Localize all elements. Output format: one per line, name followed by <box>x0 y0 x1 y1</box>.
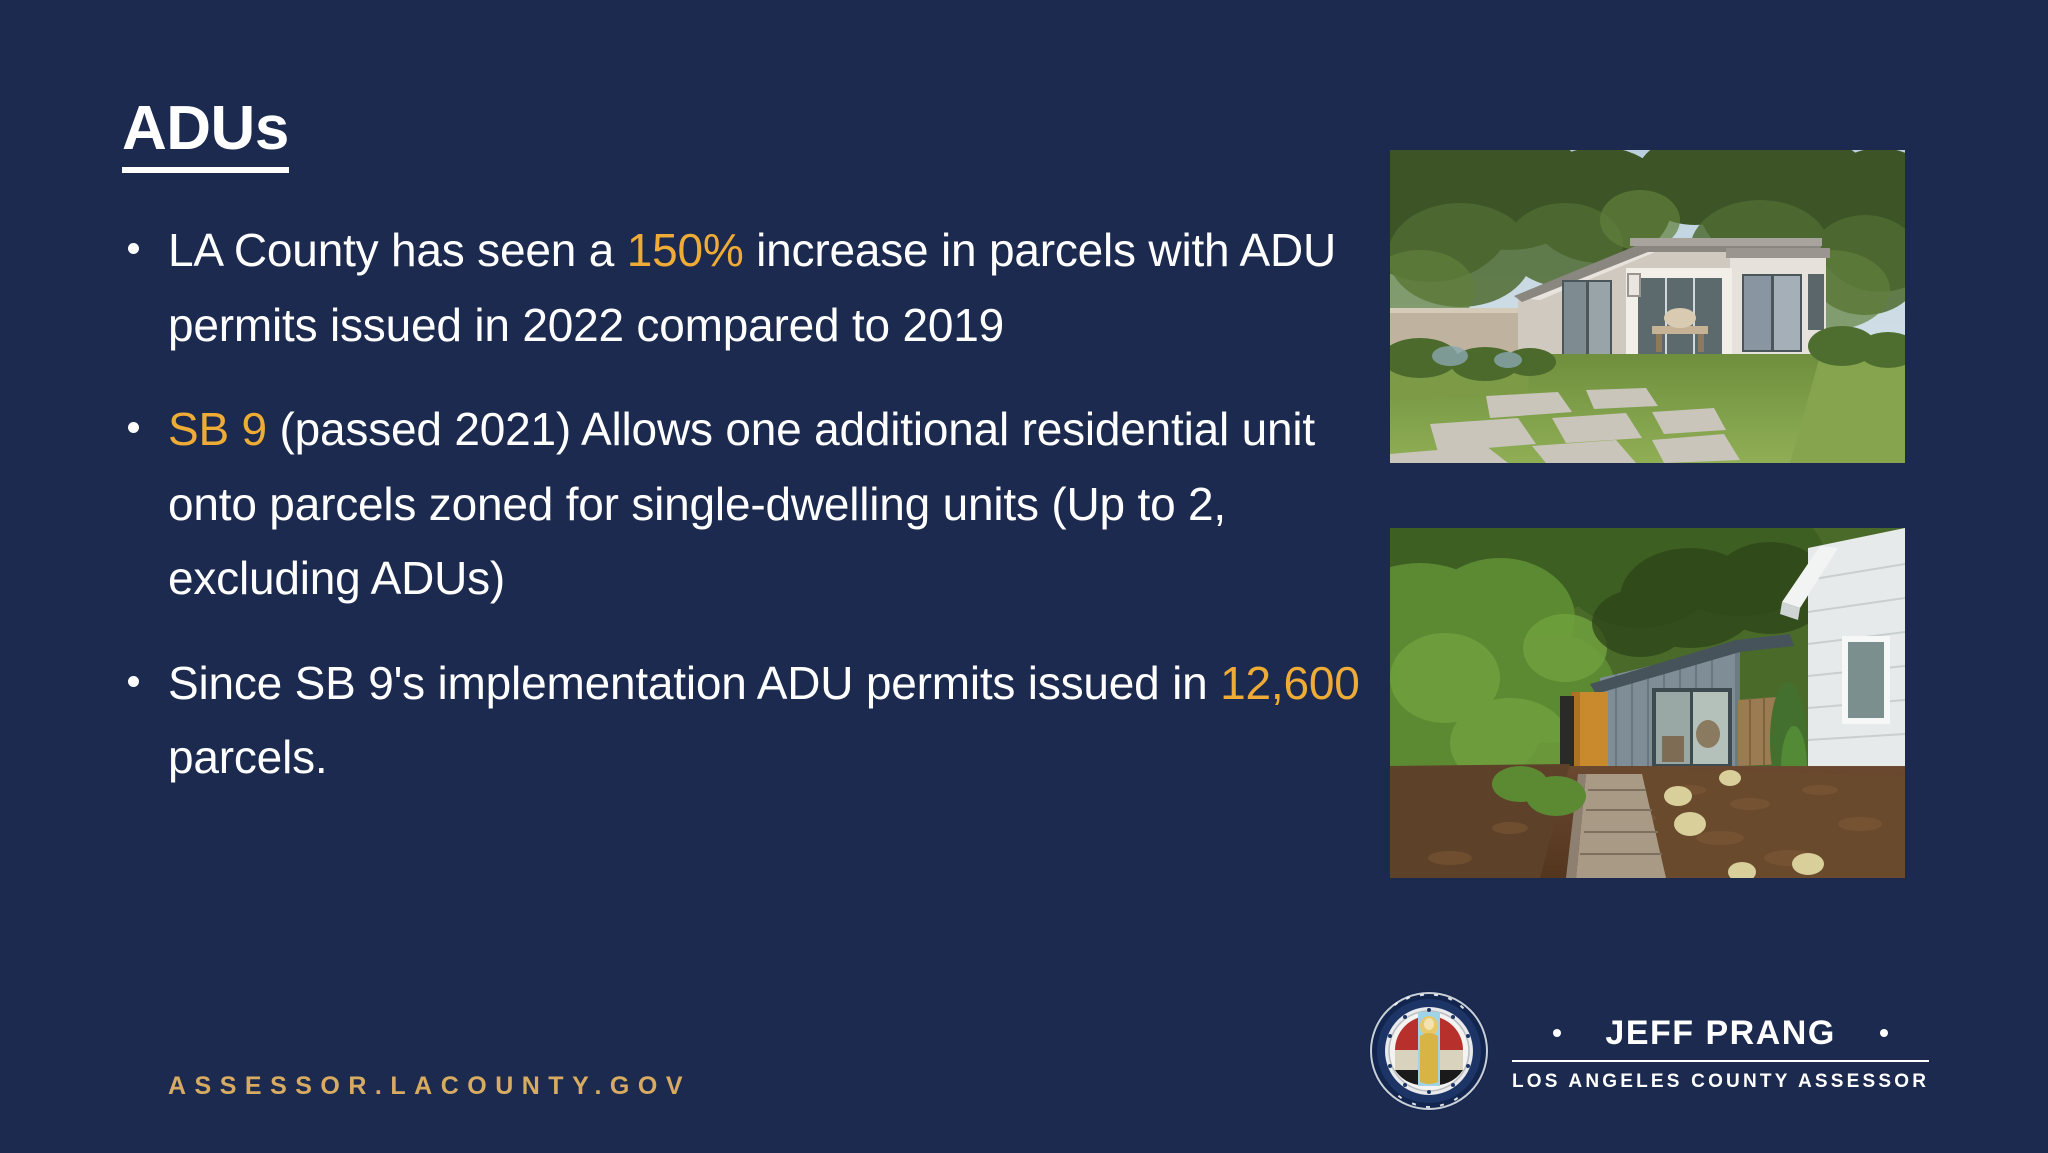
bullet-dot-icon <box>128 243 139 254</box>
list-item: LA County has seen a 150% increase in pa… <box>110 213 1360 362</box>
page-title: ADUs <box>122 96 289 173</box>
bullet-list: LA County has seen a 150% increase in pa… <box>110 213 1360 795</box>
list-item: SB 9 (passed 2021) Allows one additional… <box>110 392 1360 616</box>
bullet-text-1: LA County has seen a 150% increase in pa… <box>168 224 1336 351</box>
logo-name-row: JEFF PRANG <box>1512 1014 1929 1062</box>
logo-text-block: JEFF PRANG LOS ANGELES COUNTY ASSESSOR <box>1512 1010 1929 1093</box>
bullet-segment: Since SB 9's implementation ADU permits … <box>168 657 1220 709</box>
bullet-accent-value: 150% <box>627 224 744 276</box>
left-dot-icon <box>1553 1029 1561 1037</box>
los-angeles-county-seal-icon <box>1368 990 1490 1112</box>
bullet-dot-icon <box>128 676 139 687</box>
bullet-segment: parcels. <box>168 731 327 783</box>
right-dot-icon <box>1880 1029 1888 1037</box>
adu-gray-siding-walkway-illustration <box>1390 528 1905 878</box>
adu-photo-bottom <box>1390 528 1905 878</box>
bullet-accent-value: SB 9 <box>168 403 267 455</box>
bullet-segment: (passed 2021) Allows one additional resi… <box>168 403 1315 604</box>
bullet-text-3: Since SB 9's implementation ADU permits … <box>168 657 1360 784</box>
adu-modern-white-backyard-illustration <box>1390 150 1905 463</box>
content-column: ADUs LA County has seen a 150% increase … <box>110 96 1360 795</box>
bullet-accent-value: 12,600 <box>1220 657 1360 709</box>
site-url: ASSESSOR.LACOUNTY.GOV <box>168 1072 691 1101</box>
bullet-text-2: SB 9 (passed 2021) Allows one additional… <box>168 403 1315 604</box>
slide-root: ADUs LA County has seen a 150% increase … <box>0 0 2048 1153</box>
assessor-subtitle: LOS ANGELES COUNTY ASSESSOR <box>1512 1071 1929 1093</box>
adu-photo-top <box>1390 150 1905 463</box>
list-item: Since SB 9's implementation ADU permits … <box>110 646 1360 795</box>
bullet-segment: LA County has seen a <box>168 224 627 276</box>
assessor-logo: JEFF PRANG LOS ANGELES COUNTY ASSESSOR <box>1368 990 1929 1112</box>
assessor-name: JEFF PRANG <box>1605 1014 1835 1053</box>
bullet-dot-icon <box>128 422 139 433</box>
